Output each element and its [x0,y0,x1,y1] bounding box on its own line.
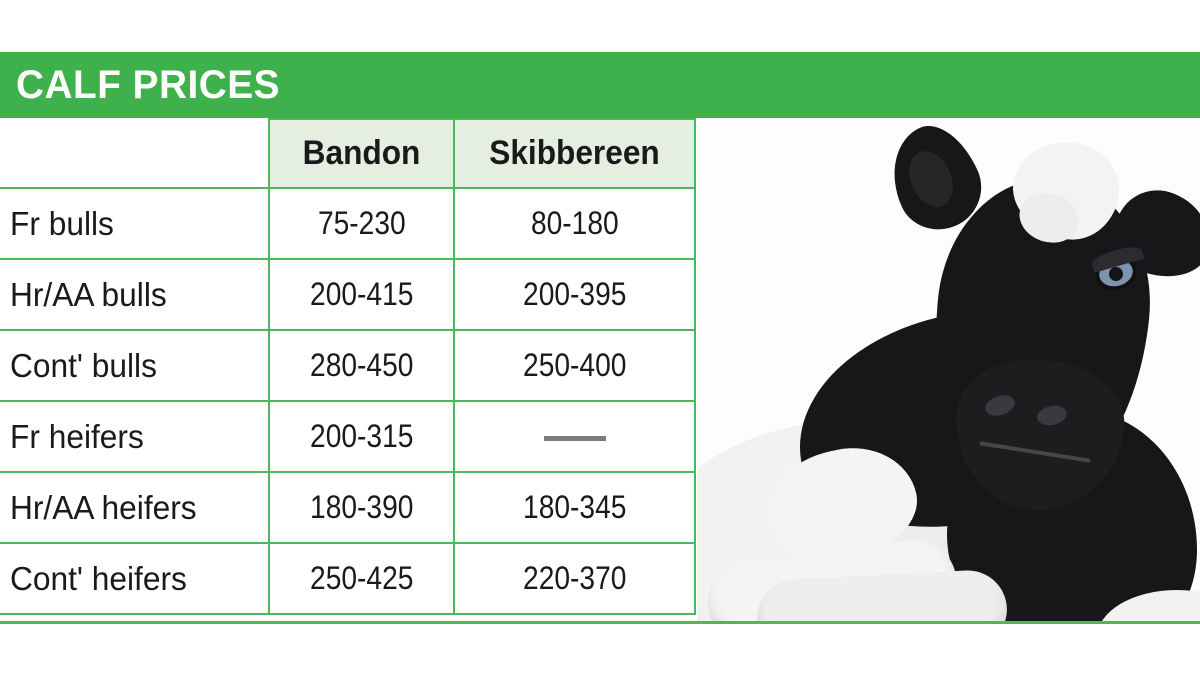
row-label-fr-bulls: Fr bulls [0,188,269,259]
title-band: CALF PRICES [0,52,1200,118]
calf-photo [697,120,1200,621]
row-label-hr-aa-bulls: Hr/AA bulls [0,259,269,330]
table-row: Cont' bulls 280-450 250-400 [0,330,695,401]
cell-bandon-fr-bulls: 75-230 [269,188,454,259]
cell-skibbereen-hr-aa-heifers: 180-345 [454,472,695,543]
cell-bandon-fr-heifers: 200-315 [269,401,454,472]
calf-prices-graphic: CALF PRICES Bandon Skibbereen [0,0,1200,675]
cell-skibbereen-fr-bulls: 80-180 [454,188,695,259]
cell-skibbereen-cont-heifers: 220-370 [454,543,695,614]
bottom-rule [0,621,1200,624]
row-label-cont-heifers: Cont' heifers [0,543,269,614]
cell-skibbereen-fr-heifers [454,401,695,472]
column-header-bandon: Bandon [269,119,454,188]
page-title: CALF PRICES [16,65,280,105]
column-header-blank [0,119,269,188]
row-label-cont-bulls: Cont' bulls [0,330,269,401]
row-label-fr-heifers: Fr heifers [0,401,269,472]
column-header-skibbereen: Skibbereen [454,119,695,188]
calf-eye-pupil [1109,267,1123,281]
cell-skibbereen-hr-aa-bulls: 200-395 [454,259,695,330]
table-row: Hr/AA bulls 200-415 200-395 [0,259,695,330]
table-row: Hr/AA heifers 180-390 180-345 [0,472,695,543]
table-header-row: Bandon Skibbereen [0,119,695,188]
calf-prices-table: Bandon Skibbereen Fr bulls 75-230 80-180… [0,118,696,615]
cell-bandon-hr-aa-bulls: 200-415 [269,259,454,330]
cell-skibbereen-cont-bulls: 250-400 [454,330,695,401]
table-row: Fr heifers 200-315 [0,401,695,472]
table-row: Cont' heifers 250-425 220-370 [0,543,695,614]
cell-bandon-cont-heifers: 250-425 [269,543,454,614]
cell-bandon-hr-aa-heifers: 180-390 [269,472,454,543]
row-label-hr-aa-heifers: Hr/AA heifers [0,472,269,543]
no-data-dash [544,436,606,441]
cell-bandon-cont-bulls: 280-450 [269,330,454,401]
table-row: Fr bulls 75-230 80-180 [0,188,695,259]
